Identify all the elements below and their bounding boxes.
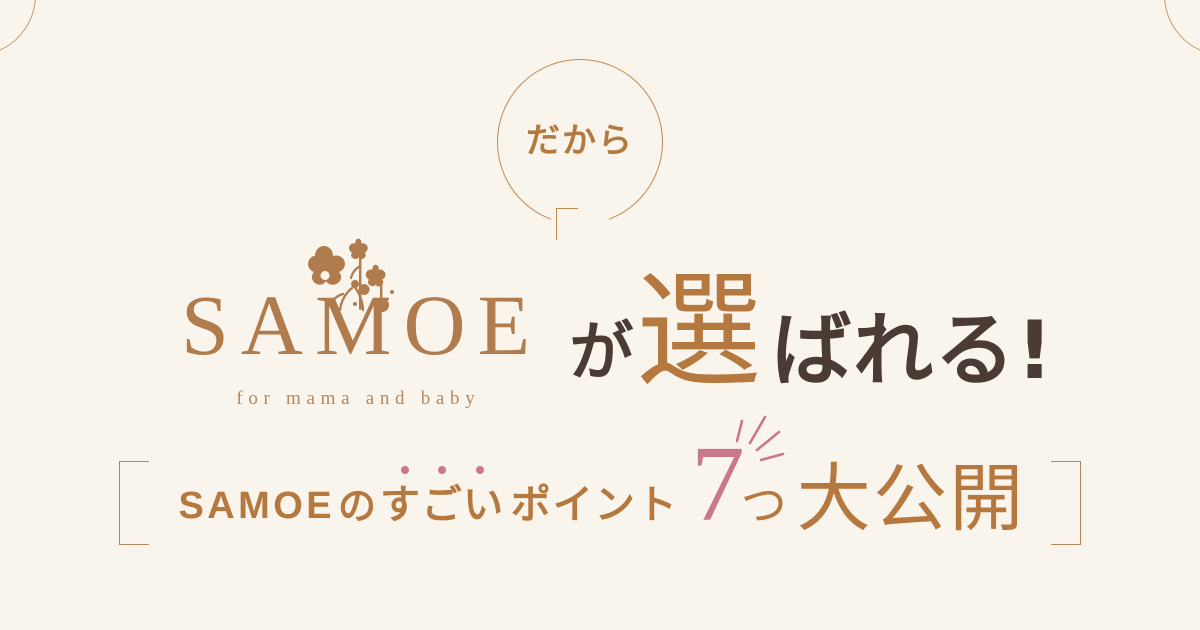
headline-row: SAMOE for mama and baby が 選 ばれる! [0,238,1200,403]
headline-emphasis-kanji: 選 [636,271,762,397]
subtitle-counter: つ [741,483,787,529]
poster-canvas: だから [0,0,1200,630]
subtitle-emphasis: すごい [380,485,505,525]
bracket-left-icon [119,461,149,545]
samoe-wordmark: SAMOE [146,282,566,368]
subtitle-bracket-row: SAMOE の すごい ポイント 7 つ 大公開 [0,448,1200,558]
corner-arc-top-left-icon [0,0,49,69]
emphasis-dots-icon [380,466,505,474]
speech-bubble-label: だから [526,124,634,158]
sparkle-icon [725,415,789,477]
subtitle-brand: SAMOE [179,487,335,525]
headline-suffix: ばれる! [772,311,1055,391]
subtitle-noun: ポイント [511,485,679,525]
headline-particle: が [570,321,634,385]
subtitle-number-group: 7 [691,431,745,539]
samoe-logo: SAMOE for mama and baby [146,238,566,403]
samoe-tagline: for mama and baby [146,388,566,410]
speech-bubble-tail-icon [556,208,578,240]
speech-bubble: だから [497,59,663,225]
corner-arc-top-right-icon [1151,0,1200,69]
bracket-right-icon [1051,461,1081,545]
subtitle-reveal: 大公開 [797,463,1026,537]
subtitle-possessive: の [338,487,376,525]
subtitle-content: SAMOE の すごい ポイント 7 つ 大公開 [179,461,1026,545]
subtitle-emphasis-label: すごい [380,485,505,525]
